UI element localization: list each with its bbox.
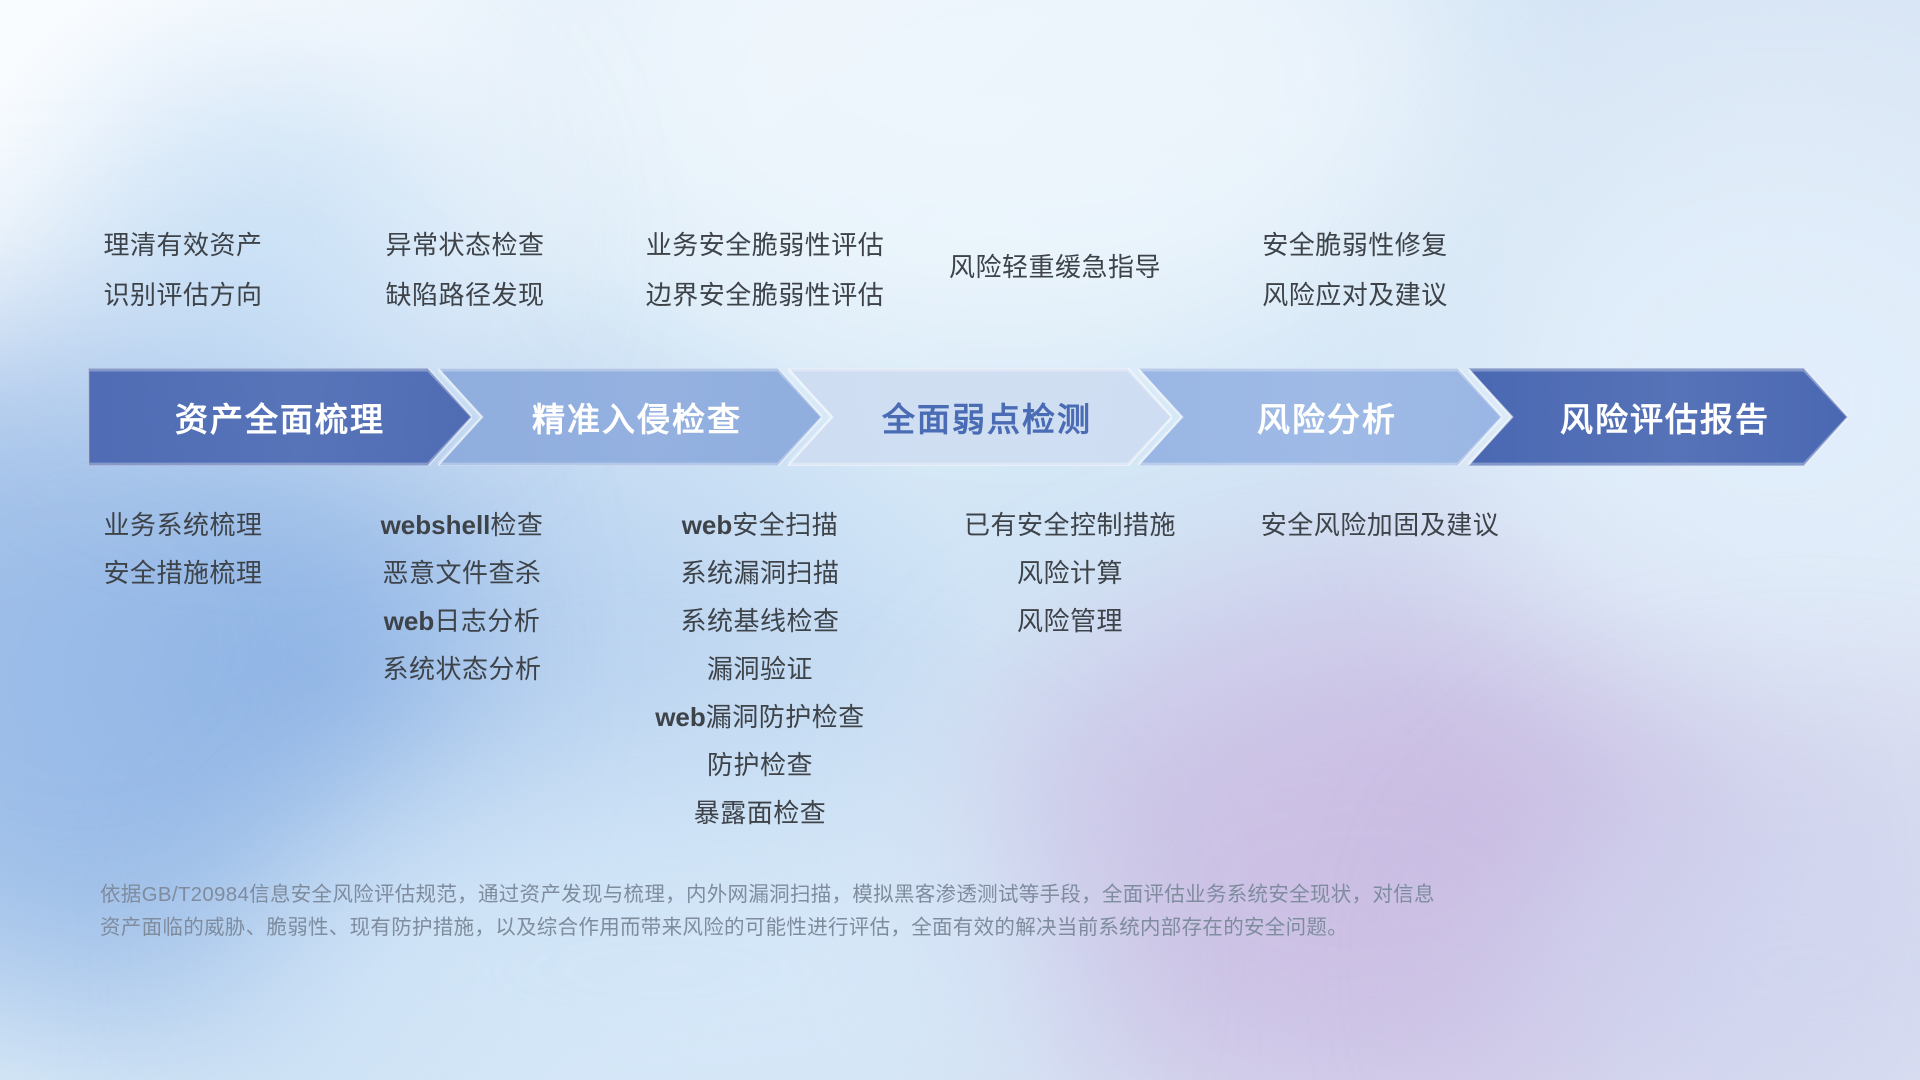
ribbon-step-weakness-detection[interactable]: 全面弱点检测 <box>788 368 1172 466</box>
bottom-note-item-latin: web <box>655 702 706 732</box>
ribbon-step-assessment-report[interactable]: 风险评估报告 <box>1468 368 1848 466</box>
process-arrow-ribbon: 资产全面梳理精准入侵检查全面弱点检测风险分析风险评估报告 <box>88 368 1848 466</box>
bottom-notes-row: 业务系统梳理安全措施梳理webshell检查恶意文件查杀web日志分析系统状态分… <box>0 512 1920 842</box>
top-note-item: 风险应对及建议 <box>1262 282 1448 308</box>
bottom-note-item-text: 风险计算 <box>1017 558 1123 588</box>
bottom-note-item-latin: web <box>682 510 733 540</box>
ribbon-step-risk-analysis[interactable]: 风险分析 <box>1138 368 1502 466</box>
top-note-item: 边界安全脆弱性评估 <box>646 282 885 308</box>
top-note-item: 安全脆弱性修复 <box>1262 232 1448 258</box>
footer-line-2: 资产面临的威胁、脆弱性、现有防护措施，以及综合作用而带来风险的可能性进行评估，全… <box>100 911 1640 944</box>
bottom-note-item-latin: webshell <box>381 510 491 540</box>
ribbon-step-label: 风险评估报告 <box>1560 393 1770 441</box>
bottom-note-item: 防护检查 <box>707 752 813 778</box>
top-notes-row: 理清有效资产识别评估方向异常状态检查缺陷路径发现业务安全脆弱性评估边界安全脆弱性… <box>0 232 1920 342</box>
ribbon-step-intrusion-check[interactable]: 精准入侵检查 <box>438 368 822 466</box>
bottom-note-item-text: 漏洞验证 <box>707 654 813 684</box>
ribbon-step-label: 精准入侵检查 <box>532 393 742 441</box>
bottom-note-item: 风险管理 <box>1017 608 1123 634</box>
bottom-note-item: 暴露面检查 <box>694 800 827 826</box>
bottom-note-item-text: 安全风险加固及建议 <box>1261 510 1500 540</box>
footer-description: 依据GB/T20984信息安全风险评估规范，通过资产发现与梳理，内外网漏洞扫描，… <box>100 878 1640 944</box>
bottom-note-item-text: 防护检查 <box>707 750 813 780</box>
bottom-note-item-text: 漏洞防护检查 <box>706 702 865 732</box>
bottom-note-item-text: 暴露面检查 <box>694 798 827 828</box>
bottom-note-item: web漏洞防护检查 <box>655 704 865 730</box>
footer-line-1: 依据GB/T20984信息安全风险评估规范，通过资产发现与梳理，内外网漏洞扫描，… <box>100 878 1640 911</box>
ribbon-step-label: 全面弱点检测 <box>882 393 1092 441</box>
slide-canvas: 理清有效资产识别评估方向异常状态检查缺陷路径发现业务安全脆弱性评估边界安全脆弱性… <box>0 0 1920 1080</box>
top-note-column-assessment-report: 安全脆弱性修复风险应对及建议 <box>1095 232 1615 308</box>
ribbon-step-label: 风险分析 <box>1257 393 1397 441</box>
bottom-note-item: 安全风险加固及建议 <box>1261 512 1500 538</box>
ribbon-step-label: 资产全面梳理 <box>175 393 385 441</box>
ribbon-step-asset-inventory[interactable]: 资产全面梳理 <box>88 368 472 466</box>
bottom-note-item-latin: web <box>384 606 435 636</box>
bottom-note-item-text: 风险管理 <box>1017 606 1123 636</box>
bottom-note-item: 风险计算 <box>1017 560 1123 586</box>
bottom-note-item: 漏洞验证 <box>707 656 813 682</box>
bottom-note-column-assessment-report: 安全风险加固及建议 <box>1120 512 1640 538</box>
